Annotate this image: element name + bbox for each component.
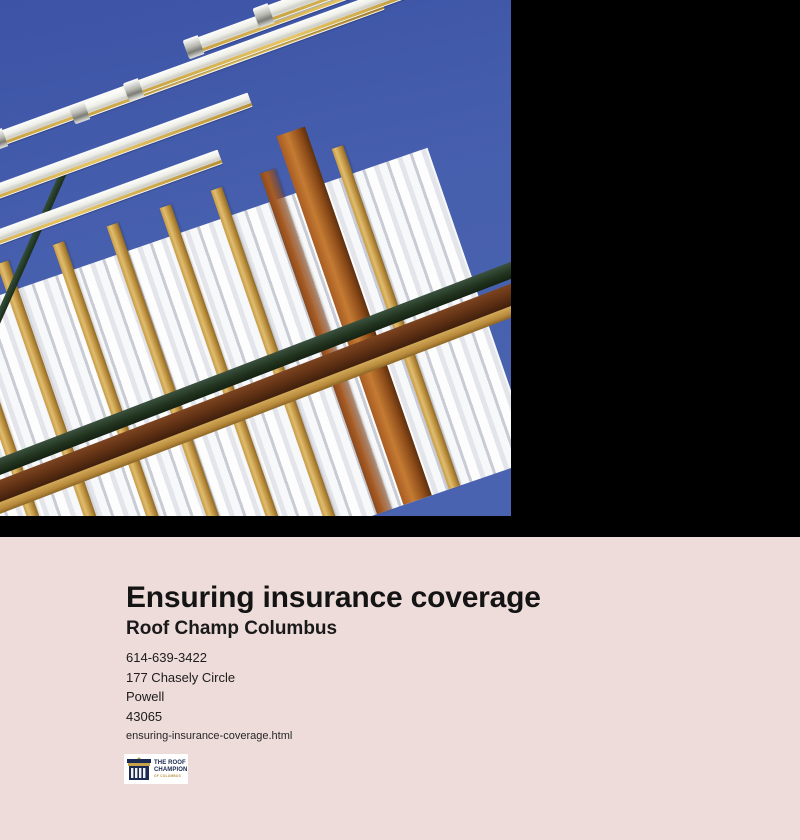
roof-champion-crest-icon [126, 757, 152, 781]
contact-postal-code: 43065 [126, 707, 235, 727]
contact-block: 614-639-3422 177 Chasely Circle Powell 4… [126, 648, 235, 726]
contact-city: Powell [126, 687, 235, 707]
logo-wordmark: THE ROOF CHAMPION OF COLUMBUS [154, 760, 187, 778]
contact-phone[interactable]: 614-639-3422 [126, 648, 235, 668]
letterbox-bar [0, 516, 800, 537]
logo-line-2: CHAMPION [154, 767, 187, 773]
logo-badge[interactable]: THE ROOF CHAMPION OF COLUMBUS [124, 754, 188, 784]
business-name: Roof Champ Columbus [126, 617, 337, 641]
logo-line-3: OF COLUMBUS [154, 775, 187, 778]
page-root: Ensuring insurance coverage Roof Champ C… [0, 0, 800, 840]
page-url[interactable]: ensuring-insurance-coverage.html [126, 729, 292, 744]
hero-photo [0, 0, 511, 516]
logo-line-1: THE ROOF [154, 760, 187, 766]
page-title: Ensuring insurance coverage [126, 580, 541, 616]
contact-street: 177 Chasely Circle [126, 668, 235, 688]
